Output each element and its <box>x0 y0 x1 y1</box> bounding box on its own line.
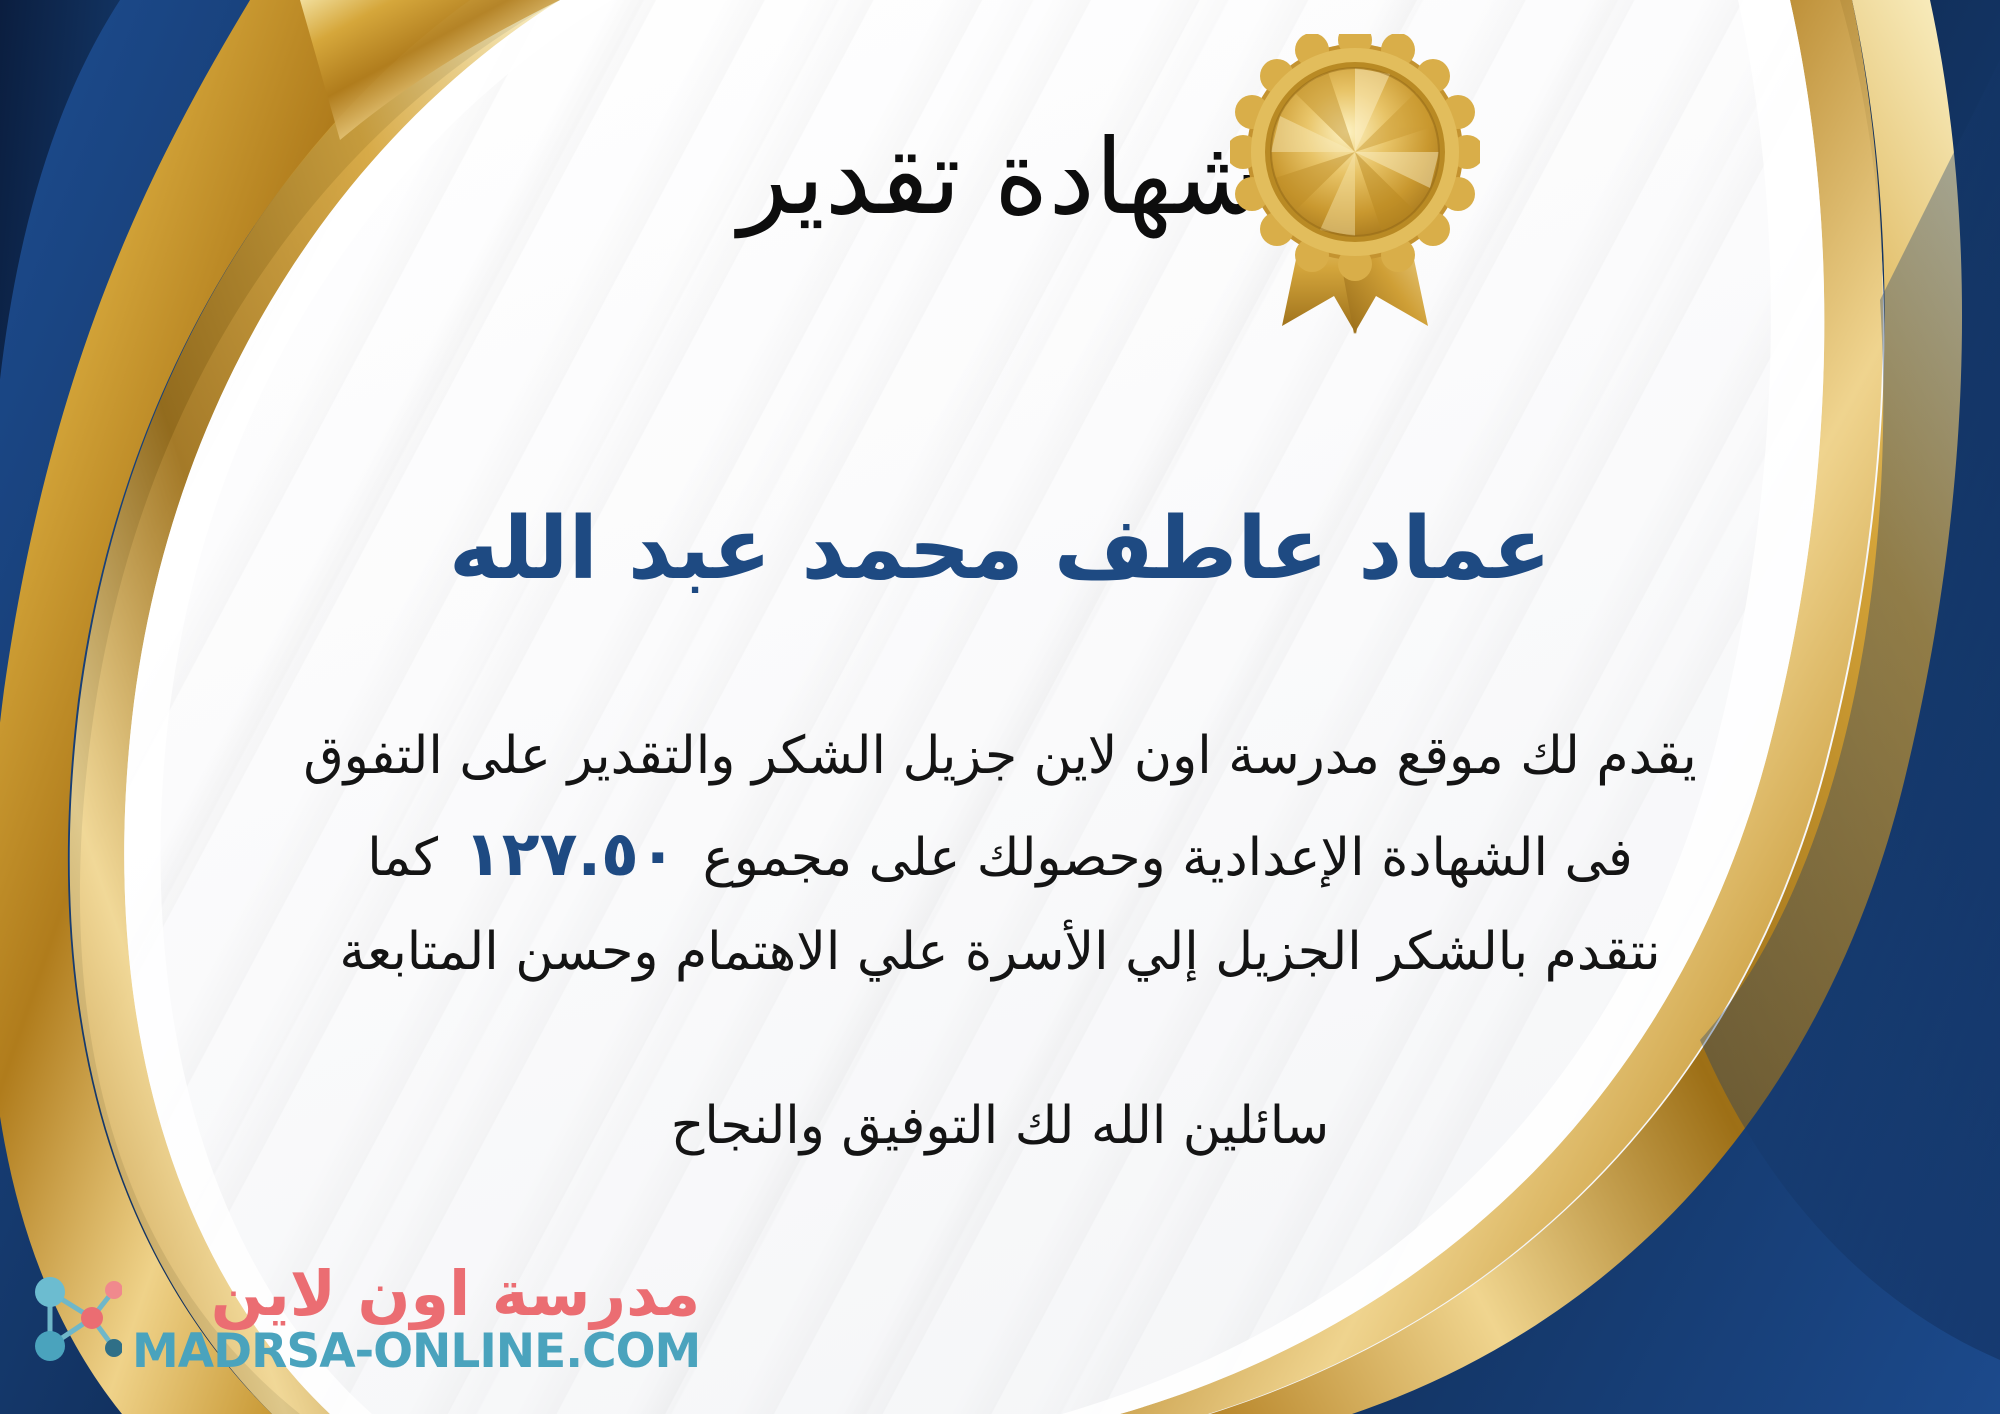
body-line-2: فى الشهادة الإعدادية وحصولك على مجموع١٢٧… <box>60 801 1940 908</box>
brand-text-block: مدرسة اون لاين MADRSA-ONLINE.COM <box>132 1261 700 1378</box>
grade-total-value: ١٢٧.٥٠ <box>438 817 703 890</box>
recipient-name: عماد عاطف محمد عبد الله <box>0 498 2000 601</box>
body-line-1: يقدم لك موقع مدرسة اون لاين جزيل الشكر و… <box>60 712 1940 801</box>
certificate-body: يقدم لك موقع مدرسة اون لاين جزيل الشكر و… <box>60 712 1940 998</box>
network-nodes-icon <box>26 1268 122 1372</box>
body-line-3: نتقدم بالشكر الجزيل إلي الأسرة علي الاهت… <box>60 908 1940 997</box>
closing-wishes: سائلين الله لك التوفيق والنجاح <box>0 1085 2000 1168</box>
brand-logo[interactable]: مدرسة اون لاين MADRSA-ONLINE.COM <box>26 1261 700 1378</box>
certificate-content: شهادة تقدير عماد عاطف محمد عبد الله يقدم… <box>0 0 2000 1414</box>
brand-website[interactable]: MADRSA-ONLINE.COM <box>132 1326 700 1378</box>
certificate-canvas: شهادة تقدير عماد عاطف محمد عبد الله يقدم… <box>0 0 2000 1414</box>
body-line-2-suffix: كما <box>367 828 438 888</box>
brand-arabic-name: مدرسة اون لاين <box>211 1261 701 1326</box>
body-line-2-prefix: فى الشهادة الإعدادية وحصولك على مجموع <box>703 828 1633 888</box>
certificate-title: شهادة تقدير <box>0 118 2000 238</box>
gold-award-medal-icon <box>1230 34 1480 334</box>
